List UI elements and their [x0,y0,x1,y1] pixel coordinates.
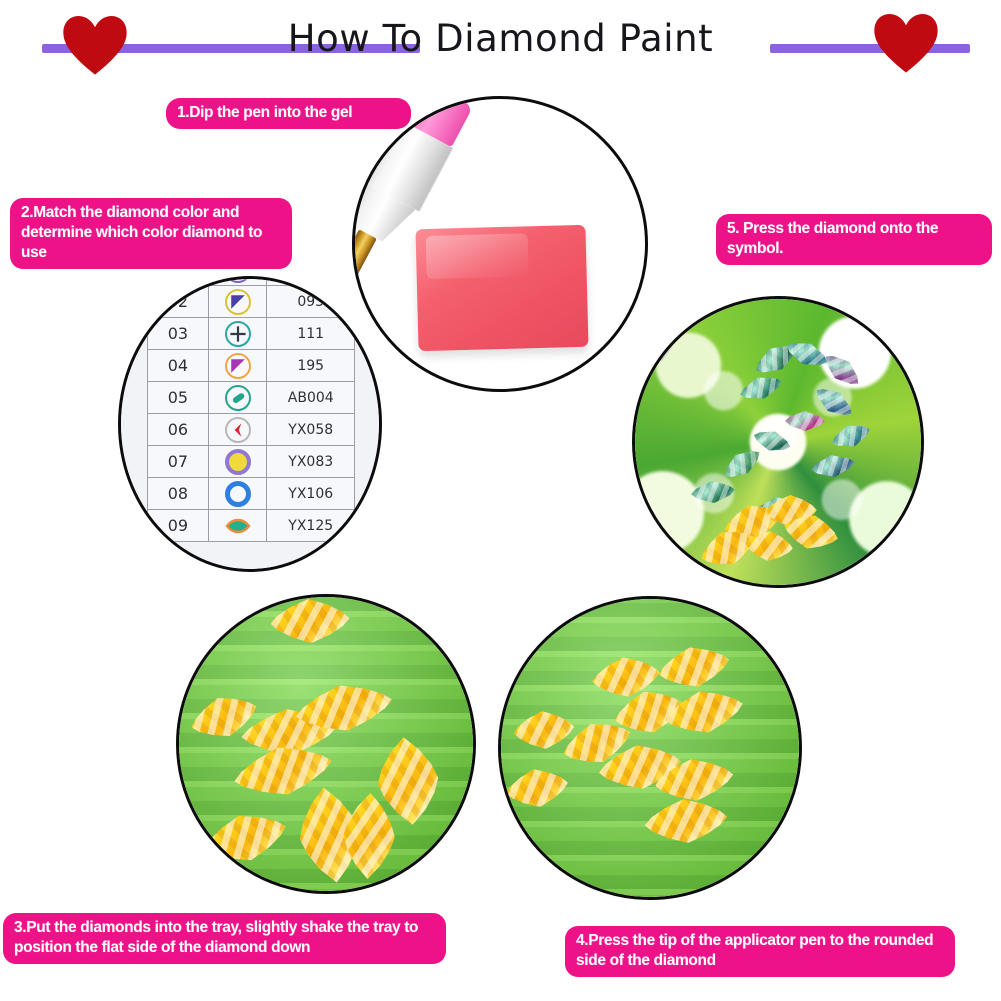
photo-diamond-tray [176,594,476,894]
chart-row-symbol [208,446,267,478]
step-5-label: 5. Press the diamond onto the symbol. [716,214,992,265]
table-row: 07YX083 [148,446,355,478]
table-row: 03111 [148,318,355,350]
chart-row-symbol [208,286,267,318]
ring-icon [225,481,251,507]
chart-row-symbol [208,414,267,446]
capsule-icon [225,385,251,411]
chart-row-number: 06 [148,414,209,446]
poster-root: How To Diamond Paint 1.Dip the pen into … [0,0,1001,1001]
chart-row-code: 195 [267,350,355,382]
chart-row-number: 09 [148,510,209,542]
chart-paper: 0102802093031110419505AB00406YX05807YX08… [121,279,379,569]
table-row: 06YX058 [148,414,355,446]
chart-row-number: 07 [148,446,209,478]
leaf-icon [225,513,251,539]
wax-gel-pad [415,225,588,351]
photo-symbol-chart: 0102802093031110419505AB00406YX05807YX08… [118,276,382,572]
chevron-left-icon [225,417,251,443]
step-4-label: 4.Press the tip of the applicator pen to… [565,926,955,977]
table-row: 09YX125 [148,510,355,542]
page-title: How To Diamond Paint [0,17,1001,61]
chart-row-symbol [208,382,267,414]
filled-dot-icon [225,449,251,475]
table-row: 08YX106 [148,478,355,510]
chart-row-code: AB004 [267,382,355,414]
chart-row-symbol [208,350,267,382]
table-row: 05AB004 [148,382,355,414]
chart-row-symbol [208,318,267,350]
photo-dip-pen-gel [352,96,648,392]
step-2-label: 2.Match the diamond color and determine … [10,198,292,269]
triangle-corner-icon [225,353,251,379]
symbol-chart-body: 0102802093031110419505AB00406YX05807YX08… [148,279,355,542]
step-3-label: 3.Put the diamonds into the tray, slight… [3,913,446,964]
chart-row-code: YX083 [267,446,355,478]
chart-row-code: 093 [267,286,355,318]
chart-row-code: YX058 [267,414,355,446]
photo-pen-press-diamond [498,596,802,900]
chart-row-symbol [208,510,267,542]
table-row: 02093 [148,286,355,318]
chart-row-number: 08 [148,478,209,510]
plus-icon [225,321,251,347]
chart-row-number: 03 [148,318,209,350]
table-row: 04195 [148,350,355,382]
chart-row-symbol [208,478,267,510]
header: How To Diamond Paint [0,0,1001,80]
chart-row-number: 04 [148,350,209,382]
step-1-label: 1.Dip the pen into the gel [166,98,411,129]
double-dot-circle-icon [225,279,251,283]
photo-press-onto-canvas [632,296,924,588]
chart-row-code: YX106 [267,478,355,510]
chart-row-number: 02 [148,286,209,318]
chart-row-code: 111 [267,318,355,350]
symbol-chart-table: 0102802093031110419505AB00406YX05807YX08… [147,279,355,542]
triangle-corner-icon [225,289,251,315]
chart-row-code: YX125 [267,510,355,542]
chart-row-number: 05 [148,382,209,414]
